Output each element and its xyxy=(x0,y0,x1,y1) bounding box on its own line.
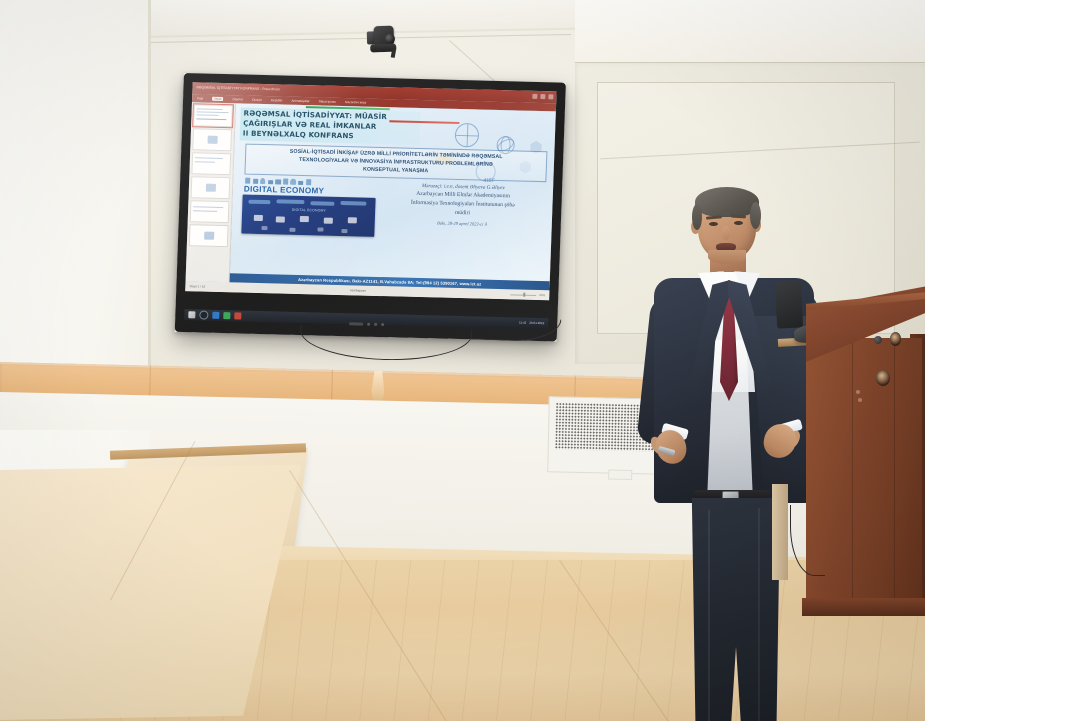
digital-economy-infographic: DIGITAL ECONOMY xyxy=(241,195,376,237)
ribbon-tab-5[interactable]: Animasiyalar xyxy=(291,99,309,103)
slide-thumbnail[interactable] xyxy=(190,200,230,223)
lectern-base-plinth xyxy=(802,598,925,616)
lectern-control-knob[interactable] xyxy=(874,336,882,344)
database-icon xyxy=(268,180,273,185)
ribbon-tab-0[interactable]: Fayl xyxy=(197,96,203,100)
cloud-icon xyxy=(245,178,250,184)
wall-seam xyxy=(575,62,925,63)
zoom-slider[interactable] xyxy=(510,294,536,296)
digital-economy-block: DIGITAL ECONOMY xyxy=(236,176,381,252)
presenter-eye-right xyxy=(734,221,743,225)
presenter-chin xyxy=(708,250,746,264)
minimize-icon[interactable] xyxy=(532,93,537,98)
window-controls[interactable] xyxy=(532,93,553,99)
display-screen[interactable]: RƏQƏMSAL İQTİSADİYYAT KONFRANS - PowerPo… xyxy=(185,82,556,300)
slide-thumbnail[interactable] xyxy=(193,104,233,127)
shield-icon xyxy=(260,178,265,185)
lock-icon xyxy=(291,179,296,186)
chip-icon xyxy=(306,179,311,185)
slide-title-block: RƏQƏMSAL İQTİSADİYYAT: MÜASİR ÇAĞIRIŞLAR… xyxy=(240,107,421,145)
conference-room-photograph: RƏQƏMSAL İQTİSADİYYAT KONFRANS - PowerPo… xyxy=(0,0,925,721)
thumbnail-chart-icon xyxy=(207,136,217,144)
gear-icon xyxy=(275,180,280,185)
language-indicator: Azərbaycan xyxy=(350,288,366,292)
thumbnail-chart-icon xyxy=(204,232,214,240)
ribbon-tab-6[interactable]: Slayd şousu xyxy=(319,99,337,103)
close-icon[interactable] xyxy=(548,94,553,99)
ribbon-tab-3[interactable]: Dizayn xyxy=(252,98,262,102)
volume-icon[interactable] xyxy=(374,322,377,325)
mobile-icon xyxy=(298,181,303,186)
presentation-date-line: Bakı, 28-29 aprel 2022-ci il xyxy=(381,218,543,229)
slide-thumbnail-pane[interactable] xyxy=(186,102,236,282)
slide-canvas-area[interactable]: 4ISF RƏQƏMSAL İQTİSADİYYAT: MÜASİR ÇAĞIR… xyxy=(230,103,556,290)
slide-subtitle-block: SOSİAL-İQTİSADİ İNKİŞAF ÜZRƏ MİLLİ PRİOR… xyxy=(244,144,547,182)
presenter-trouser-crease-right xyxy=(758,508,760,721)
ribbon-tab-4[interactable]: Keçidlər xyxy=(271,98,283,102)
presenter-hair-side-left xyxy=(692,204,702,230)
ribbon-tab-1[interactable]: Əsas xyxy=(212,97,223,101)
chart-icon xyxy=(253,179,258,184)
powerpoint-title-text: RƏQƏMSAL İQTİSADİYYAT KONFRANS - PowerPo… xyxy=(196,87,279,93)
lectern-screw xyxy=(856,390,860,394)
presenter-eye-left xyxy=(709,222,718,226)
network-icon xyxy=(283,179,288,185)
interactive-flat-panel-display[interactable]: RƏQƏMSAL İQTİSADİYYAT KONFRANS - PowerPo… xyxy=(175,73,566,342)
infographic-caption: DIGITAL ECONOMY xyxy=(292,208,326,213)
zoom-level-label: 68% xyxy=(539,293,545,297)
presentation-slide: 4ISF RƏQƏMSAL İQTİSADİYYAT: MÜASİR ÇAĞIR… xyxy=(230,103,556,290)
thumbnail-chart-icon xyxy=(205,184,215,192)
zoom-control[interactable]: 68% xyxy=(510,292,545,297)
slide-indicator: Slayd 1 / 18 xyxy=(189,284,205,288)
powerpoint-workspace: 4ISF RƏQƏMSAL İQTİSADİYYAT: MÜASİR ÇAĞIR… xyxy=(186,102,556,290)
lectern-screw xyxy=(858,398,862,402)
slide-thumbnail[interactable] xyxy=(192,128,232,151)
lectern-side-panel-light xyxy=(772,484,788,580)
ribbon-tab-2[interactable]: Daxil et xyxy=(232,97,243,101)
maximize-icon[interactable] xyxy=(540,94,545,99)
slide-thumbnail[interactable] xyxy=(189,224,229,247)
vent-foot xyxy=(608,470,632,481)
power-icon[interactable] xyxy=(367,322,370,325)
camera-lens-icon xyxy=(385,34,395,44)
presenter-trouser-crease-left xyxy=(708,510,710,721)
globe-watermark-icon xyxy=(455,123,480,148)
lectern-cable-grommet xyxy=(890,332,901,346)
display-brand-logo xyxy=(349,322,363,325)
slide-lower-region: DIGITAL ECONOMY xyxy=(236,176,548,256)
ribbon-tab-7[interactable]: Nəzərdən keçir xyxy=(345,100,367,105)
screenshot-canvas: RƏQƏMSAL İQTİSADİYYAT KONFRANS - PowerPo… xyxy=(0,0,1080,721)
slide-thumbnail[interactable] xyxy=(191,152,231,175)
slide-thumbnail[interactable] xyxy=(191,176,231,199)
camera-body xyxy=(374,26,395,46)
ptz-conference-camera xyxy=(365,23,400,56)
presenter-hair-side-right xyxy=(750,202,761,229)
monitor-rear-panel xyxy=(775,281,803,328)
presenter-nose xyxy=(722,226,730,240)
presenter-credits-block: Məruzəçi: i.e.n, dosent Əliyeva G.Əliyev… xyxy=(378,180,548,256)
lectern-speaker-port xyxy=(876,370,890,386)
ceiling-soffit-right xyxy=(575,0,925,64)
source-icon[interactable] xyxy=(381,323,384,326)
